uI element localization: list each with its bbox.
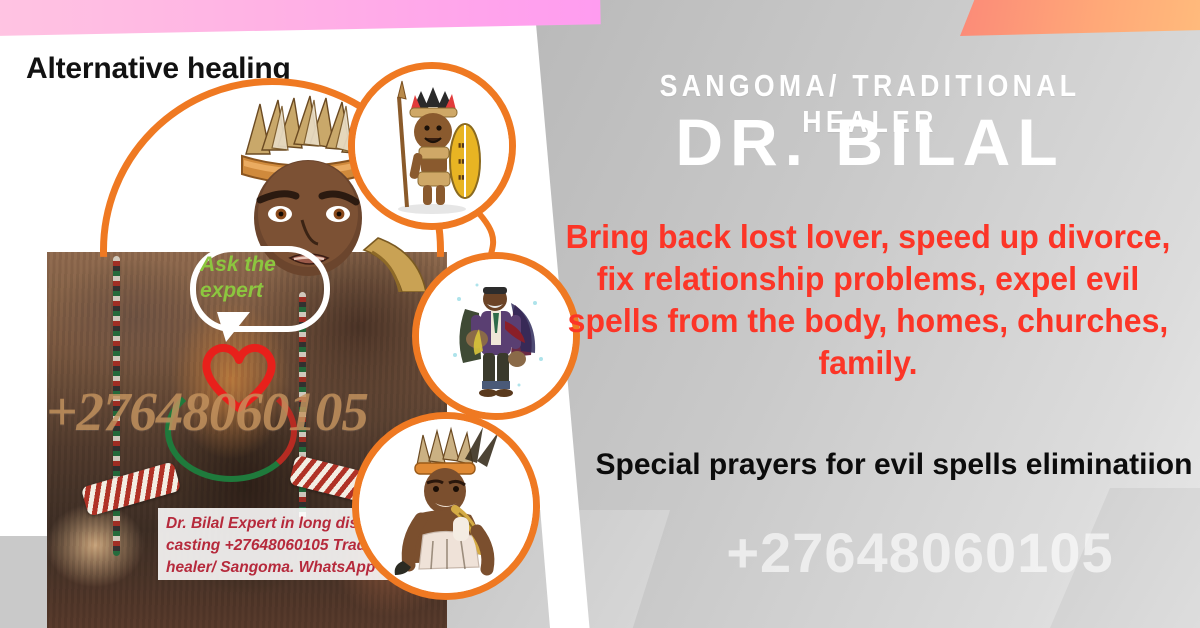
svg-text:▮▮: ▮▮ (458, 175, 465, 181)
services-text: Bring back lost lover, speed up divorce,… (548, 216, 1188, 384)
phone-watermark: +27648060105 (640, 520, 1200, 585)
circle-image-bottom (352, 412, 540, 600)
poster-canvas: Alternative healing (0, 0, 1200, 628)
speech-bubble-label: Ask the expert (200, 252, 312, 305)
zulu-warrior-cartoon-icon: ▮▮▮▮▮▮ (355, 69, 509, 223)
svg-text:▮▮: ▮▮ (458, 143, 465, 149)
circle-image-top: ▮▮▮▮▮▮ (348, 62, 516, 230)
speech-bubble-tail (217, 312, 250, 342)
orange-top-band (960, 0, 1200, 36)
svg-text:▮▮: ▮▮ (458, 159, 465, 165)
crouching-warrior-icon (359, 419, 533, 593)
brand-name: DR. BILAL (556, 108, 1184, 177)
prayers-text: Special prayers for evil spells eliminat… (592, 445, 1196, 484)
